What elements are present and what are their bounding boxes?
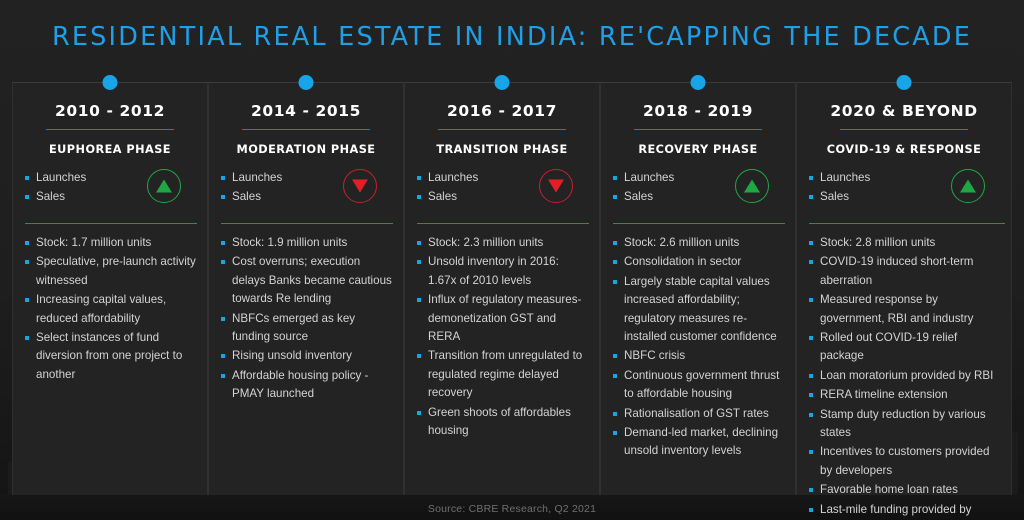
fact-text: Favorable home loan rates — [820, 481, 958, 499]
bullet-icon — [809, 260, 813, 264]
metric-label: Sales — [820, 187, 849, 206]
bullet-icon — [221, 374, 225, 378]
bullet-icon — [417, 298, 421, 302]
fact-text: Loan moratorium provided by RBI — [820, 367, 993, 385]
fact-item: Transition from unregulated to regulated… — [417, 347, 589, 402]
timeline-dot-icon — [897, 75, 912, 90]
fact-item: Rolled out COVID-19 relief package — [809, 329, 1001, 366]
timeline-panel-3[interactable]: 2016 - 2017 TRANSITION PHASE Launches Sa… — [404, 82, 600, 495]
bullet-icon — [25, 176, 29, 180]
bullet-icon — [809, 374, 813, 378]
fact-text: Incentives to customers provided by deve… — [820, 443, 1001, 480]
bullet-icon — [25, 298, 29, 302]
fact-text: Largely stable capital values increased … — [624, 273, 785, 347]
fact-item: Loan moratorium provided by RBI — [809, 367, 1001, 385]
fact-item: Cost overruns; execution delays Banks be… — [221, 253, 393, 308]
fact-item: Select instances of fund diversion from … — [25, 329, 197, 384]
fact-text: Unsold inventory in 2016: 1.67x of 2010 … — [428, 253, 589, 290]
divider-blue — [242, 129, 370, 130]
fact-text: Rolled out COVID-19 relief package — [820, 329, 1001, 366]
timeline-dot-icon — [691, 75, 706, 90]
bullet-icon — [417, 241, 421, 245]
bullet-icon — [613, 412, 617, 416]
bullet-icon — [221, 176, 225, 180]
panel-phase-label: EUPHOREA PHASE — [23, 143, 197, 156]
fact-item: Stamp duty reduction by various states — [809, 406, 1001, 443]
fact-text: Stock: 1.7 million units — [36, 234, 151, 252]
fact-item: Favorable home loan rates — [809, 481, 1001, 499]
bullet-icon — [809, 241, 813, 245]
fact-text: NBFCs emerged as key funding source — [232, 310, 393, 347]
metric-label: Launches — [232, 168, 282, 187]
bullet-icon — [613, 354, 617, 358]
triangle-up-icon — [147, 169, 181, 203]
fact-text: Stock: 2.8 million units — [820, 234, 935, 252]
metric-label: Launches — [624, 168, 674, 187]
fact-text: Stock: 1.9 million units — [232, 234, 347, 252]
fact-item: Stock: 2.8 million units — [809, 234, 1001, 252]
bullet-icon — [613, 374, 617, 378]
panel-phase-label: MODERATION PHASE — [219, 143, 393, 156]
fact-text: Demand-led market, declining unsold inve… — [624, 424, 785, 461]
bullet-icon — [613, 431, 617, 435]
panel-metrics: Launches Sales — [807, 168, 1001, 214]
panel-years: 2020 & BEYOND — [807, 102, 1001, 120]
panel-phase-label: TRANSITION PHASE — [415, 143, 589, 156]
fact-item: Continuous government thrust to affordab… — [613, 367, 785, 404]
fact-text: Cost overruns; execution delays Banks be… — [232, 253, 393, 308]
fact-item: Consolidation in sector — [613, 253, 785, 271]
divider-blue — [840, 129, 968, 130]
timeline-dot-icon — [103, 75, 118, 90]
fact-text: Influx of regulatory measures- demonetiz… — [428, 291, 589, 346]
divider-green — [417, 223, 589, 224]
metric-label: Launches — [820, 168, 870, 187]
fact-text: Rationalisation of GST rates — [624, 405, 769, 423]
timeline-panel-4[interactable]: 2018 - 2019 RECOVERY PHASE Launches Sale… — [600, 82, 796, 495]
timeline-dot-icon — [495, 75, 510, 90]
bullet-icon — [809, 195, 813, 199]
panel-metrics: Launches Sales — [23, 168, 197, 214]
bullet-icon — [25, 260, 29, 264]
bullet-icon — [417, 354, 421, 358]
fact-text: Consolidation in sector — [624, 253, 741, 271]
fact-item: Stock: 1.7 million units — [25, 234, 197, 252]
bullet-icon — [613, 176, 617, 180]
metric-label: Sales — [428, 187, 457, 206]
panel-facts: Stock: 1.9 million units Cost overruns; … — [219, 234, 393, 404]
divider-green — [221, 223, 393, 224]
divider-green — [613, 223, 785, 224]
fact-text: Stamp duty reduction by various states — [820, 406, 1001, 443]
fact-item: Largely stable capital values increased … — [613, 273, 785, 347]
metric-label: Launches — [428, 168, 478, 187]
fact-text: Rising unsold inventory — [232, 347, 352, 365]
bullet-icon — [221, 260, 225, 264]
triangle-up-icon — [735, 169, 769, 203]
bullet-icon — [221, 354, 225, 358]
panel-years: 2016 - 2017 — [415, 102, 589, 120]
panel-years: 2018 - 2019 — [611, 102, 785, 120]
panel-facts: Stock: 2.3 million units Unsold inventor… — [415, 234, 589, 440]
fact-item: Stock: 2.3 million units — [417, 234, 589, 252]
bullet-icon — [221, 317, 225, 321]
metric-label: Sales — [36, 187, 65, 206]
fact-text: Affordable housing policy - PMAY launche… — [232, 367, 393, 404]
bullet-icon — [613, 280, 617, 284]
timeline-board: 2010 - 2012 EUPHOREA PHASE Launches Sale… — [12, 82, 1012, 495]
fact-item: Affordable housing policy - PMAY launche… — [221, 367, 393, 404]
panel-metrics: Launches Sales — [415, 168, 589, 214]
timeline-dot-icon — [299, 75, 314, 90]
panel-facts: Stock: 2.6 million units Consolidation i… — [611, 234, 785, 461]
fact-item: Incentives to customers provided by deve… — [809, 443, 1001, 480]
fact-text: Green shoots of affordables housing — [428, 404, 589, 441]
fact-item: Demand-led market, declining unsold inve… — [613, 424, 785, 461]
bullet-icon — [809, 450, 813, 454]
fact-item: Influx of regulatory measures- demonetiz… — [417, 291, 589, 346]
bullet-icon — [809, 393, 813, 397]
panel-phase-label: COVID-19 & RESPONSE — [807, 143, 1001, 156]
bullet-icon — [809, 336, 813, 340]
panel-metrics: Launches Sales — [219, 168, 393, 214]
fact-text: Stock: 2.3 million units — [428, 234, 543, 252]
fact-text: RERA timeline extension — [820, 386, 948, 404]
fact-item: Stock: 2.6 million units — [613, 234, 785, 252]
fact-text: Select instances of fund diversion from … — [36, 329, 197, 384]
bullet-icon — [221, 241, 225, 245]
timeline-panel-5[interactable]: 2020 & BEYOND COVID-19 & RESPONSE Launch… — [796, 82, 1012, 495]
fact-text: COVID-19 induced short-term aberration — [820, 253, 1001, 290]
bullet-icon — [417, 411, 421, 415]
fact-item: NBFCs emerged as key funding source — [221, 310, 393, 347]
bullet-icon — [25, 336, 29, 340]
bullet-icon — [613, 260, 617, 264]
bullet-icon — [25, 241, 29, 245]
panel-years: 2010 - 2012 — [23, 102, 197, 120]
panel-phase-label: RECOVERY PHASE — [611, 143, 785, 156]
divider-blue — [438, 129, 566, 130]
infographic-root: RESIDENTIAL REAL ESTATE IN INDIA: RE'CAP… — [0, 0, 1024, 520]
panel-facts: Stock: 2.8 million units COVID-19 induce… — [807, 234, 1001, 520]
fact-item: Unsold inventory in 2016: 1.67x of 2010 … — [417, 253, 589, 290]
bullet-icon — [613, 241, 617, 245]
bullet-icon — [417, 260, 421, 264]
bullet-icon — [809, 176, 813, 180]
metric-label: Sales — [232, 187, 261, 206]
timeline-panel-2[interactable]: 2014 - 2015 MODERATION PHASE Launches Sa… — [208, 82, 404, 495]
fact-item: COVID-19 induced short-term aberration — [809, 253, 1001, 290]
bullet-icon — [809, 413, 813, 417]
fact-text: Measured response by government, RBI and… — [820, 291, 1001, 328]
divider-blue — [46, 129, 174, 130]
fact-item: NBFC crisis — [613, 347, 785, 365]
divider-blue — [634, 129, 762, 130]
divider-green — [809, 223, 1005, 224]
divider-green — [25, 223, 197, 224]
fact-item: RERA timeline extension — [809, 386, 1001, 404]
bullet-icon — [417, 176, 421, 180]
source-citation: Source: CBRE Research, Q2 2021 — [0, 503, 1024, 515]
fact-item: Rising unsold inventory — [221, 347, 393, 365]
triangle-up-icon — [951, 169, 985, 203]
fact-item: Speculative, pre-launch activity witness… — [25, 253, 197, 290]
fact-item: Measured response by government, RBI and… — [809, 291, 1001, 328]
metric-label: Sales — [624, 187, 653, 206]
fact-item: Stock: 1.9 million units — [221, 234, 393, 252]
fact-item: Increasing capital values, reduced affor… — [25, 291, 197, 328]
fact-item: Green shoots of affordables housing — [417, 404, 589, 441]
triangle-down-icon — [539, 169, 573, 203]
timeline-panel-1[interactable]: 2010 - 2012 EUPHOREA PHASE Launches Sale… — [12, 82, 208, 495]
fact-text: Speculative, pre-launch activity witness… — [36, 253, 197, 290]
panel-metrics: Launches Sales — [611, 168, 785, 214]
metric-label: Launches — [36, 168, 86, 187]
page-title: RESIDENTIAL REAL ESTATE IN INDIA: RE'CAP… — [0, 22, 1024, 52]
bullet-icon — [25, 195, 29, 199]
fact-item: Rationalisation of GST rates — [613, 405, 785, 423]
fact-text: NBFC crisis — [624, 347, 685, 365]
fact-text: Stock: 2.6 million units — [624, 234, 739, 252]
fact-text: Increasing capital values, reduced affor… — [36, 291, 197, 328]
panel-years: 2014 - 2015 — [219, 102, 393, 120]
fact-text: Transition from unregulated to regulated… — [428, 347, 589, 402]
bullet-icon — [809, 488, 813, 492]
bullet-icon — [809, 298, 813, 302]
fact-text: Continuous government thrust to affordab… — [624, 367, 785, 404]
panel-facts: Stock: 1.7 million units Speculative, pr… — [23, 234, 197, 384]
triangle-down-icon — [343, 169, 377, 203]
bullet-icon — [221, 195, 225, 199]
bullet-icon — [417, 195, 421, 199]
bullet-icon — [613, 195, 617, 199]
